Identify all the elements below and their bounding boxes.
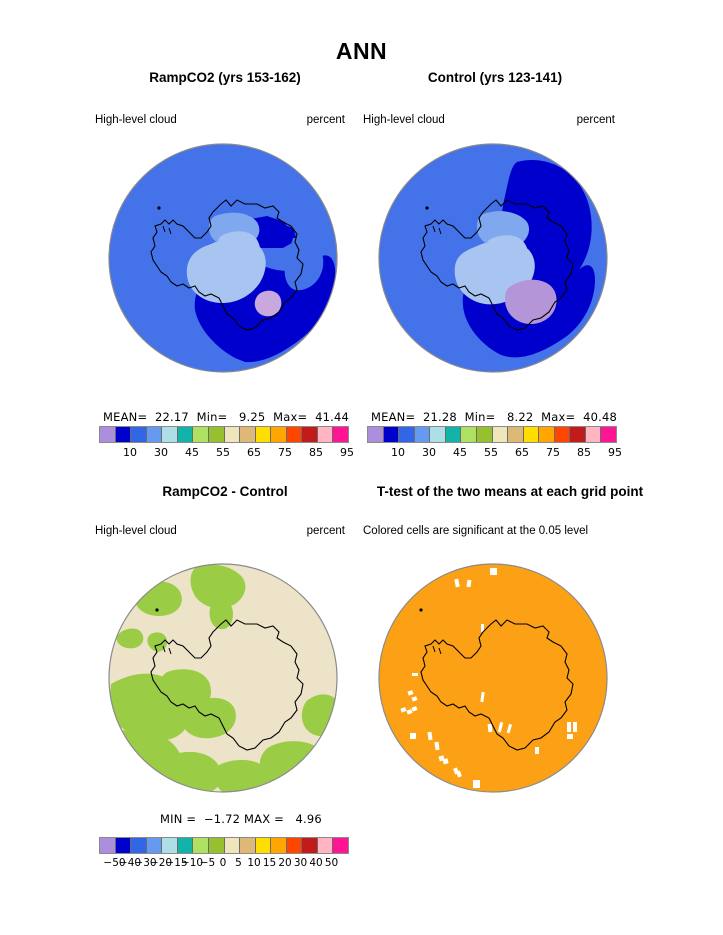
colorbar-ticks-top-right: 1030455565758595 — [367, 446, 615, 460]
colorbar-cell — [318, 838, 334, 853]
colorbar-cell — [240, 427, 256, 442]
colorbar-tick-label: 10 — [247, 857, 260, 869]
colorbar-cell — [100, 838, 116, 853]
map-top-left — [107, 142, 339, 374]
colorbar-cell — [100, 427, 116, 442]
stats-top-right: MEAN= 21.28 Min= 8.22 Max= 40.48 — [371, 410, 617, 424]
panel-title-bottom-left: RampCO2 - Control — [90, 484, 360, 499]
colorbar-cell — [508, 427, 524, 442]
colorbar-top-right — [367, 426, 617, 443]
units-label-top-left: percent — [215, 114, 345, 126]
colorbar-tick-label: 15 — [263, 857, 276, 869]
colorbar-cell — [271, 427, 287, 442]
colorbar-tick-label: 20 — [278, 857, 291, 869]
colorbar-cell — [147, 838, 163, 853]
colorbar-tick-label: 30 — [154, 446, 168, 459]
colorbar-tick-label: 85 — [309, 446, 323, 459]
stats-top-left: MEAN= 22.17 Min= 9.25 Max= 41.44 — [103, 410, 349, 424]
colorbar-cell — [384, 427, 400, 442]
units-label-bottom-left: percent — [215, 525, 345, 537]
colorbar-cell — [131, 427, 147, 442]
significance-caption: Colored cells are significant at the 0.0… — [363, 525, 588, 537]
colorbar-cell — [461, 427, 477, 442]
map-bottom-left — [107, 562, 339, 794]
colorbar-cell — [209, 427, 225, 442]
colorbar-tick-label: 45 — [185, 446, 199, 459]
colorbar-tick-label: 0 — [220, 857, 227, 869]
colorbar-cell — [333, 427, 348, 442]
colorbar-tick-label: 75 — [278, 446, 292, 459]
colorbar-cell — [524, 427, 540, 442]
colorbar-cell — [539, 427, 555, 442]
colorbar-tick-label: 5 — [235, 857, 242, 869]
colorbar-tick-label: 55 — [216, 446, 230, 459]
colorbar-tick-label: 10 — [123, 446, 137, 459]
colorbar-top-left — [99, 426, 349, 443]
colorbar-tick-label: 85 — [577, 446, 591, 459]
colorbar-tick-label: 30 — [422, 446, 436, 459]
colorbar-bottom — [99, 837, 349, 854]
units-label-top-right: percent — [490, 114, 615, 126]
colorbar-cell — [162, 427, 178, 442]
colorbar-cell — [116, 838, 132, 853]
colorbar-tick-label: −5 — [200, 857, 215, 869]
panel-title-top-left: RampCO2 (yrs 153-162) — [90, 70, 360, 85]
colorbar-cell — [287, 838, 303, 853]
page-title: ANN — [0, 38, 723, 65]
colorbar-cell — [446, 427, 462, 442]
colorbar-tick-label: 55 — [484, 446, 498, 459]
colorbar-cell — [302, 838, 318, 853]
colorbar-tick-label: 65 — [247, 446, 261, 459]
colorbar-cell — [162, 838, 178, 853]
colorbar-cell — [555, 427, 571, 442]
colorbar-cell — [302, 427, 318, 442]
variable-label-top-right: High-level cloud — [363, 114, 445, 126]
colorbar-cell — [570, 427, 586, 442]
colorbar-tick-label: 95 — [340, 446, 354, 459]
colorbar-tick-label: 40 — [309, 857, 322, 869]
colorbar-ticks-top-left: 1030455565758595 — [99, 446, 347, 460]
colorbar-tick-label: 45 — [453, 446, 467, 459]
panel-title-bottom-right: T-test of the two means at each grid poi… — [345, 484, 675, 499]
colorbar-cell — [586, 427, 602, 442]
colorbar-tick-label: 75 — [546, 446, 560, 459]
colorbar-cell — [225, 427, 241, 442]
colorbar-cell — [193, 838, 209, 853]
stats-bottom-left: MIN = −1.72 MAX = 4.96 — [160, 812, 322, 826]
colorbar-cell — [225, 838, 241, 853]
colorbar-tick-label: 95 — [608, 446, 622, 459]
colorbar-cell — [178, 427, 194, 442]
colorbar-cell — [368, 427, 384, 442]
colorbar-cell — [271, 838, 287, 853]
colorbar-tick-label: 50 — [325, 857, 338, 869]
colorbar-cell — [287, 427, 303, 442]
colorbar-cell — [430, 427, 446, 442]
colorbar-cell — [256, 838, 272, 853]
colorbar-tick-label: 30 — [294, 857, 307, 869]
panel-title-top-right: Control (yrs 123-141) — [360, 70, 630, 85]
colorbar-tick-label: 10 — [391, 446, 405, 459]
colorbar-cell — [193, 427, 209, 442]
colorbar-cell — [209, 838, 225, 853]
variable-label-bottom-left: High-level cloud — [95, 525, 177, 537]
colorbar-cell — [131, 838, 147, 853]
colorbar-cell — [477, 427, 493, 442]
colorbar-tick-label: 65 — [515, 446, 529, 459]
colorbar-cell — [240, 838, 256, 853]
colorbar-cell — [333, 838, 348, 853]
colorbar-cell — [318, 427, 334, 442]
figure-canvas: ANN RampCO2 (yrs 153-162) High-level clo… — [0, 0, 723, 935]
colorbar-cell — [399, 427, 415, 442]
colorbar-ticks-bottom: −50−40−30−20−15−10−505101520304050 — [99, 857, 347, 871]
colorbar-cell — [178, 838, 194, 853]
colorbar-cell — [493, 427, 509, 442]
variable-label-top-left: High-level cloud — [95, 114, 177, 126]
colorbar-cell — [601, 427, 616, 442]
map-bottom-right-ttest — [377, 562, 609, 794]
colorbar-cell — [147, 427, 163, 442]
colorbar-cell — [116, 427, 132, 442]
map-top-right — [377, 142, 609, 374]
colorbar-cell — [256, 427, 272, 442]
colorbar-cell — [415, 427, 431, 442]
